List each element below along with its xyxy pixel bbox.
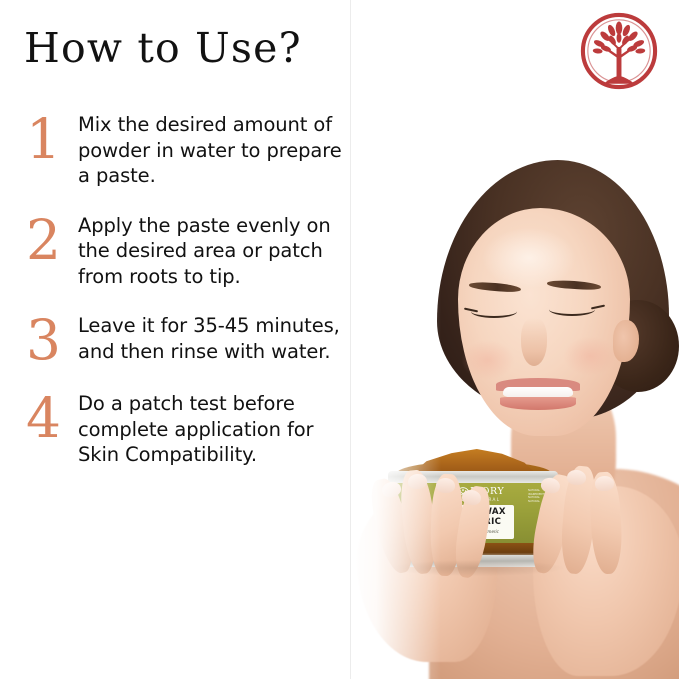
model-photo: IVORY NATURAL Turmeric Powder NATURAL IN…	[351, 0, 679, 679]
eye-right	[549, 303, 595, 316]
how-to-use-poster: How to Use? 1 Mix the desired amount of …	[0, 0, 679, 679]
brand-logo-icon	[578, 10, 660, 92]
step-item: 2 Apply the paste evenly on the desired …	[22, 211, 352, 290]
step-item: 4 Do a patch test before complete applic…	[22, 389, 352, 468]
lower-lip	[500, 397, 576, 410]
page-title: How to Use?	[24, 24, 302, 72]
instructions-panel: How to Use? 1 Mix the desired amount of …	[0, 0, 351, 679]
fingernail	[436, 478, 456, 494]
forehead-highlight	[483, 228, 575, 288]
step-number: 2	[22, 213, 78, 267]
eye-left	[471, 305, 517, 318]
step-text: Apply the paste evenly on the desired ar…	[78, 211, 352, 290]
cheek-right	[563, 336, 617, 376]
step-item: 1 Mix the desired amount of powder in wa…	[22, 110, 352, 189]
steps-list: 1 Mix the desired amount of powder in wa…	[22, 110, 352, 490]
product-photo-panel: IVORY NATURAL Turmeric Powder NATURAL IN…	[351, 0, 679, 679]
nose-shape	[521, 318, 547, 366]
step-number: 1	[22, 112, 78, 166]
step-number: 4	[22, 391, 78, 445]
cheek-left	[461, 340, 515, 380]
step-item: 3 Leave it for 35-45 minutes, and then r…	[22, 311, 352, 367]
mouth-shape	[496, 378, 580, 408]
jar-shadow	[391, 560, 563, 576]
step-text: Leave it for 35-45 minutes, and then rin…	[78, 311, 352, 364]
step-text: Do a patch test before complete applicat…	[78, 389, 352, 468]
step-text: Mix the desired amount of powder in wate…	[78, 110, 352, 189]
step-number: 3	[22, 313, 78, 367]
